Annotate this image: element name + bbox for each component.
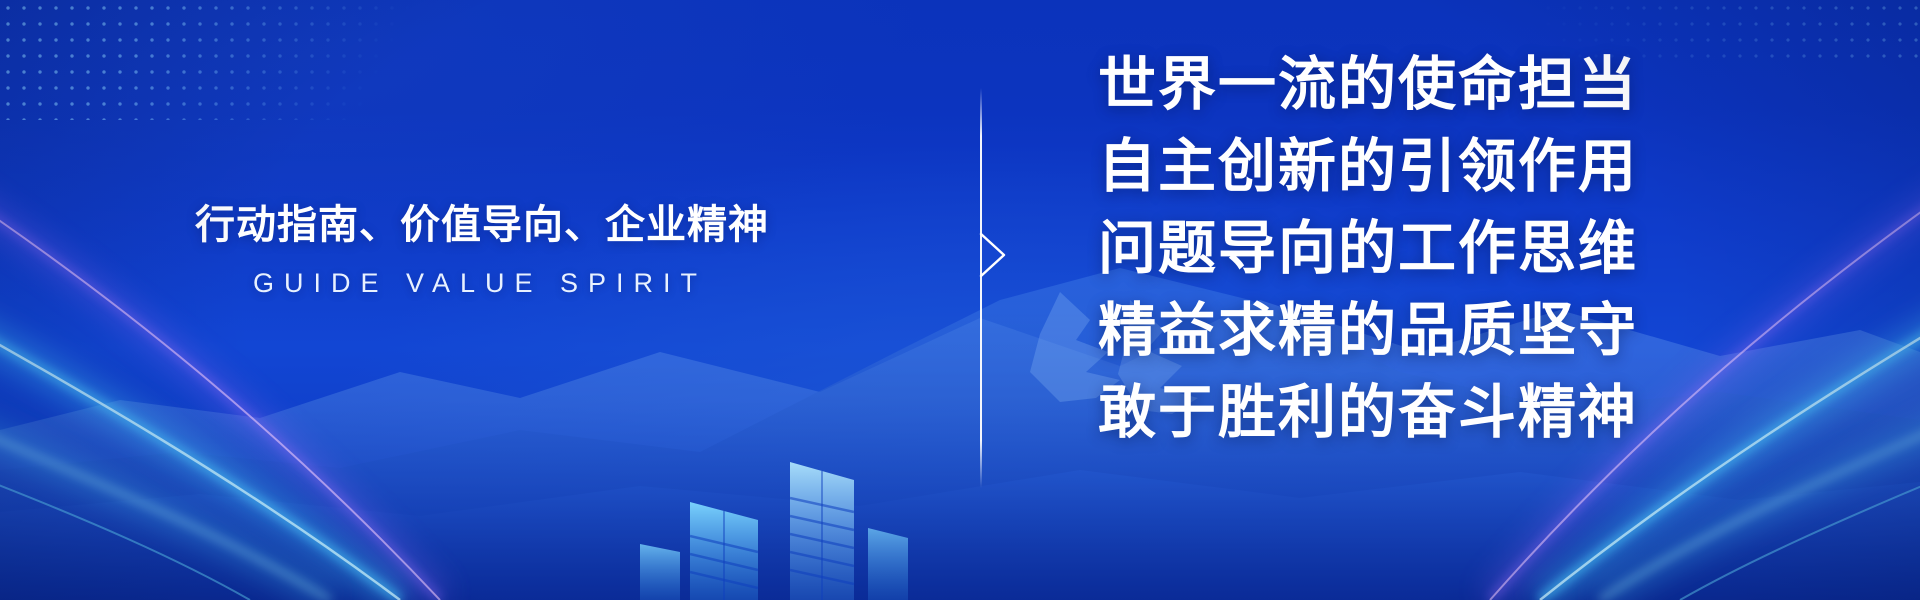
right-line-1: 世界一流的使命担当 — [1098, 44, 1718, 126]
halftone-dots-top-left — [0, 0, 520, 120]
right-text-block: 世界一流的使命担当 自主创新的引领作用 问题导向的工作思维 精益求精的品质坚守 … — [1098, 44, 1718, 454]
right-line-2: 自主创新的引领作用 — [1098, 126, 1718, 208]
right-line-3: 问题导向的工作思维 — [1098, 208, 1718, 290]
city-buildings-silhouette — [640, 440, 980, 600]
right-line-4: 精益求精的品质坚守 — [1098, 290, 1718, 372]
left-text-block: 行动指南、价值导向、企业精神 GUIDE VALUE SPIRIT — [195, 200, 755, 299]
left-subtitle: GUIDE VALUE SPIRIT — [195, 268, 755, 299]
vertical-divider — [980, 88, 982, 488]
chevron-right-icon — [978, 232, 1008, 278]
left-title: 行动指南、价值导向、企业精神 — [195, 200, 755, 250]
promo-banner: 行动指南、价值导向、企业精神 GUIDE VALUE SPIRIT 世界一流的使… — [0, 0, 1920, 600]
right-line-5: 敢于胜利的奋斗精神 — [1098, 372, 1718, 454]
